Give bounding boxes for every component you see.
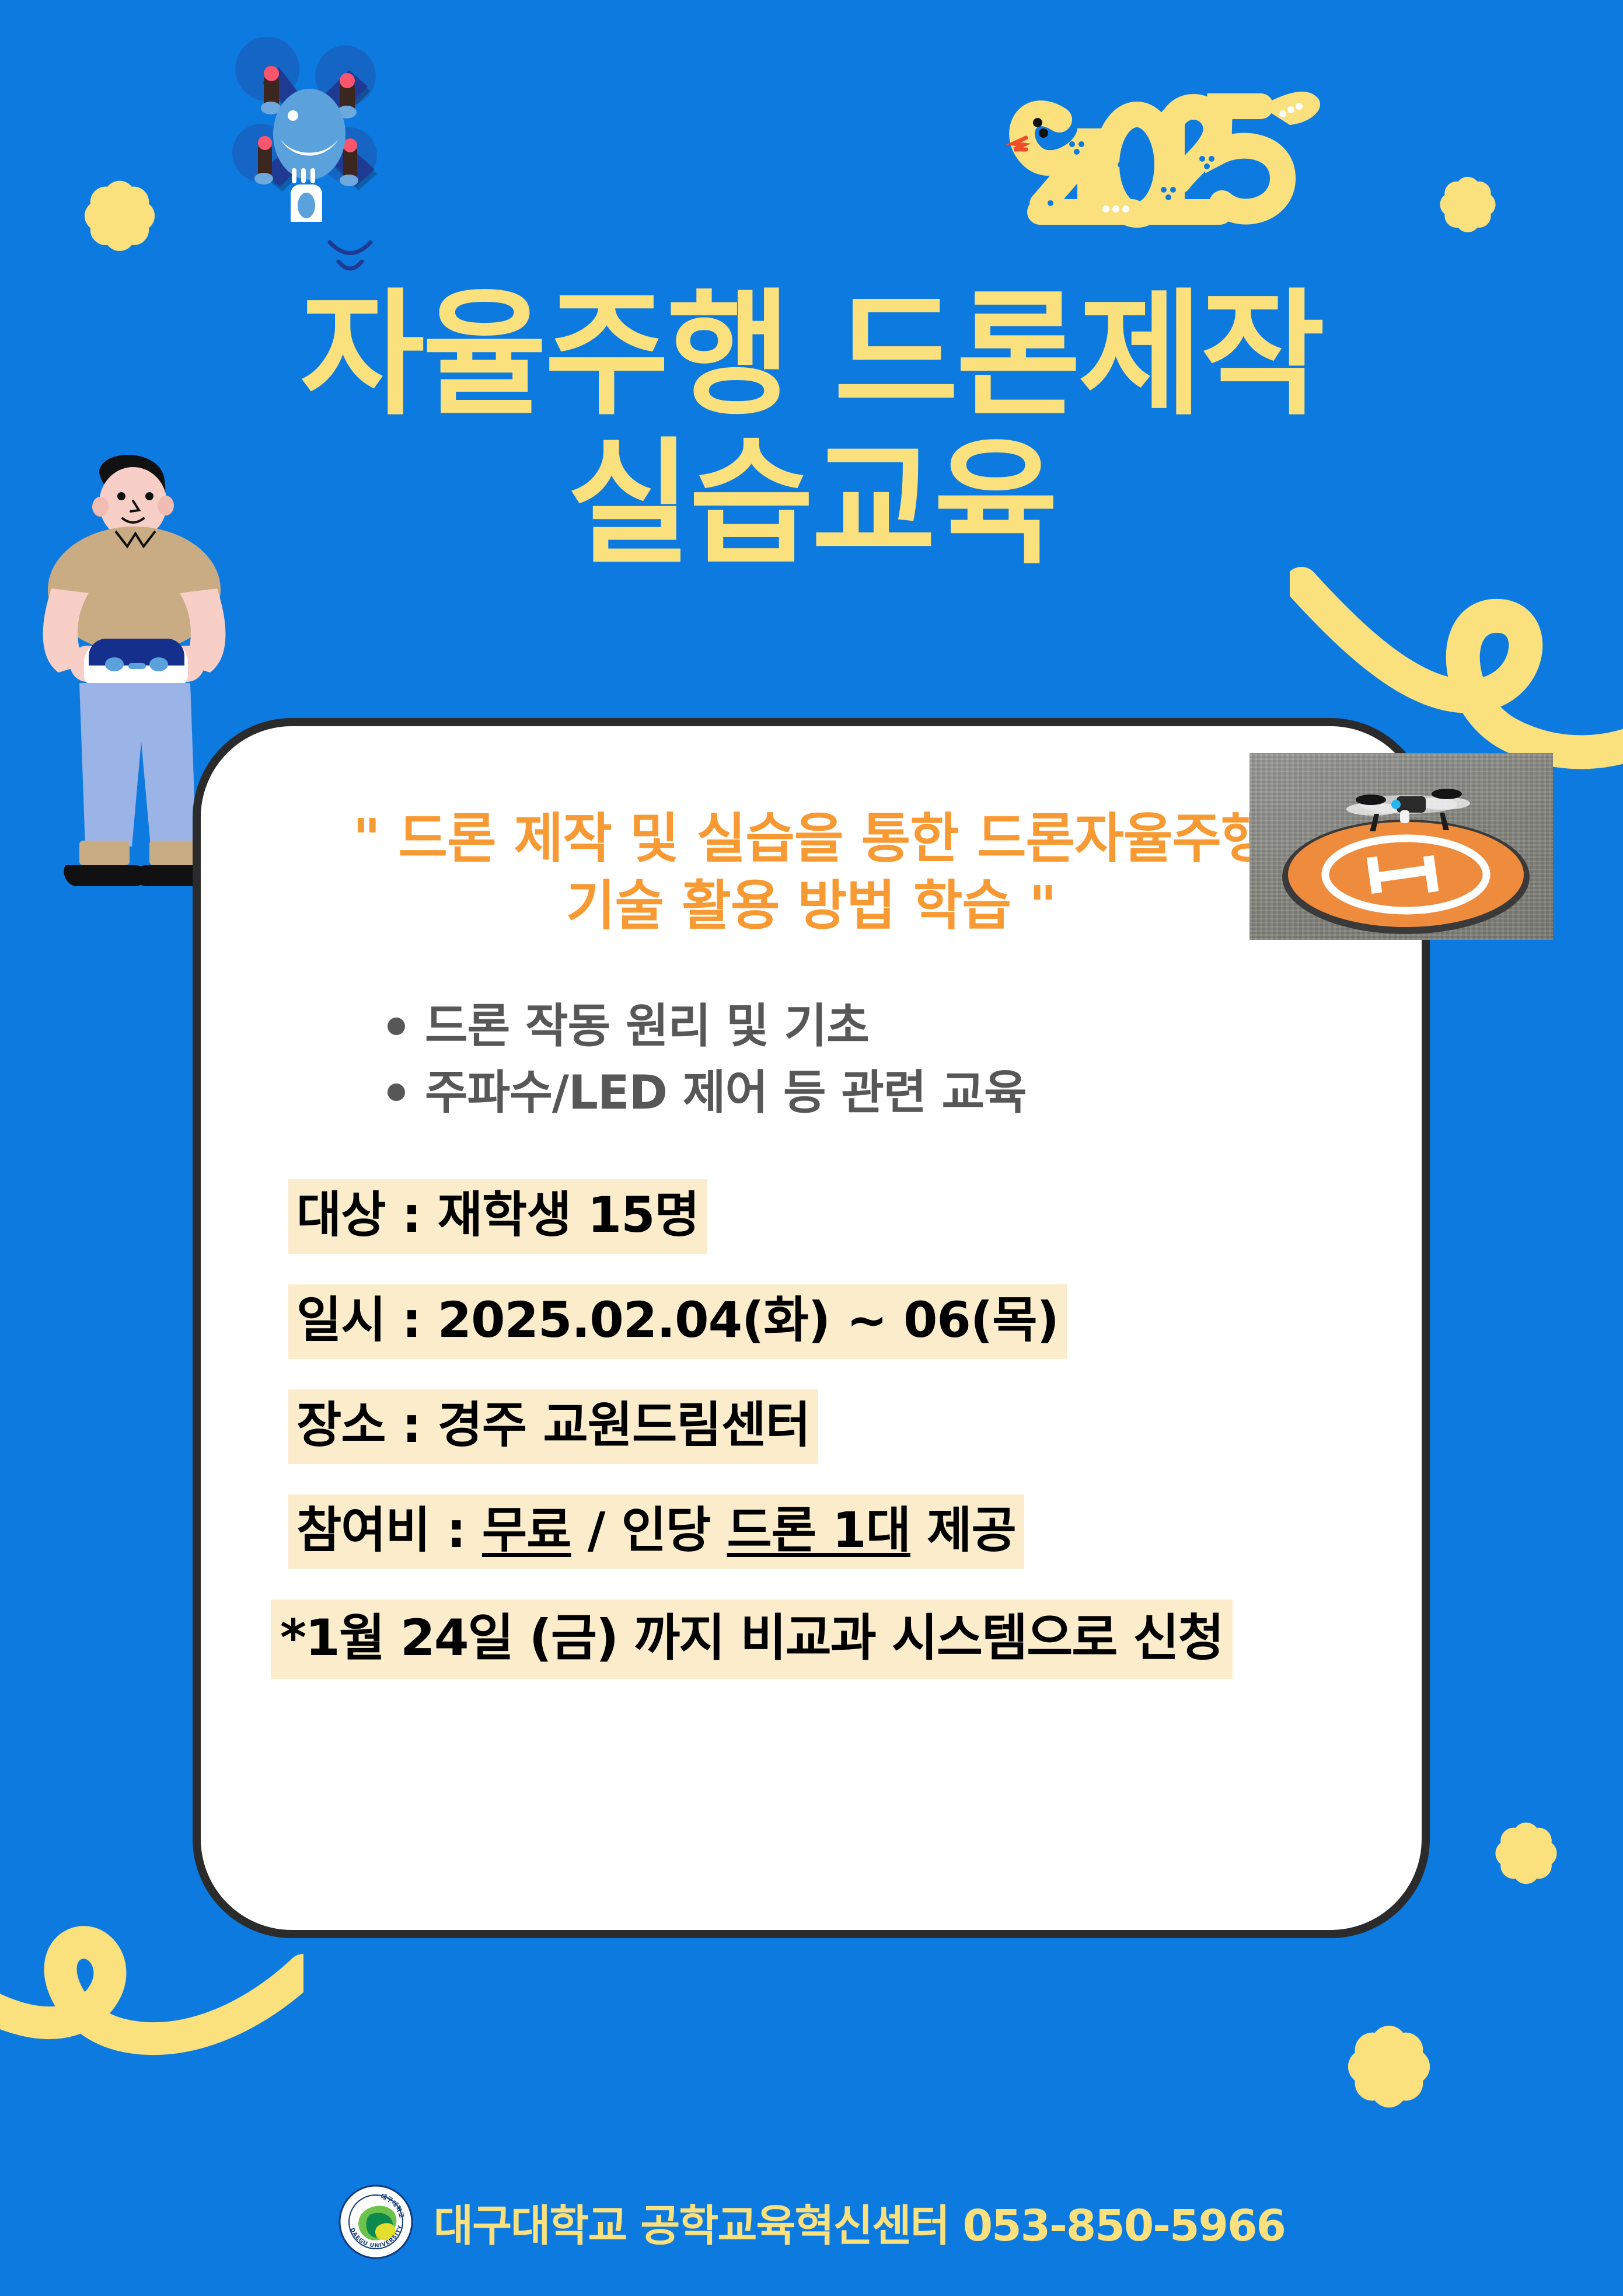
fee-underline-free: 무료 [482,1501,571,1559]
footer: 대구대학교 DAEGU UNIVERSITY 1956 대구대학교 공학교육혁신… [0,2184,1623,2260]
content-card: " 드론 제작 및 실습을 통한 드론자율주행 기술 활용 방법 학습 " 드론… [193,718,1430,1938]
bullet-text: 드론 작동 원리 및 기초 [425,993,869,1060]
asterisk-icon-top-right [1412,149,1523,260]
info-highlight-date: 일시 : 2025.02.04(화) ~ 06(목) [288,1284,1067,1359]
asterisk-icon-bottom-right-large [1307,1985,1471,2148]
poster-root: 자율주행 드론제작 실습교육 " 드론 제작 및 실습을 통한 드론자율주행 [0,0,1623,2296]
bullet-text: 주파수/LED 제어 등 관련 교육 [425,1060,1027,1126]
list-item: 드론 작동 원리 및 기초 [388,993,1422,1060]
poster-title: 자율주행 드론제작 실습교육 [0,286,1623,573]
footer-organization: 대구대학교 공학교육혁신센터 053-850-5966 [434,2191,1285,2253]
info-highlight-place: 장소 : 경주 교원드림센터 [288,1389,818,1464]
info-list: 대상 : 재학생 15명 일시 : 2025.02.04(화) ~ 06(목) … [201,1179,1422,1569]
drone-signal-waves-icon [309,234,391,286]
fee-suffix: 제공 [910,1501,1016,1559]
quote-line-2: 기술 활용 방법 학습 " [201,872,1422,939]
fee-underline-drone: 드론 1대 [727,1501,910,1559]
year-2025-snake-graphic [986,64,1395,257]
list-item: 주파수/LED 제어 등 관련 교육 [388,1060,1422,1126]
fee-prefix: 참여비 : [296,1501,482,1559]
bullet-dot-icon [388,1018,405,1035]
photo-contents [1249,753,1553,940]
bullet-list: 드론 작동 원리 및 기초 주파수/LED 제어 등 관련 교육 [201,993,1422,1126]
application-note-row: *1월 24일 (금) 까지 비교과 시스템으로 신청 [201,1600,1422,1679]
info-row-fee: 참여비 : 무료 / 인당 드론 1대 제공 [288,1494,1422,1569]
fee-mid: / 인당 [571,1501,727,1559]
title-line-2: 실습교육 [0,435,1623,573]
squiggle-loop-bottom-left [0,1909,303,2102]
quote-block: " 드론 제작 및 실습을 통한 드론자율주행 기술 활용 방법 학습 " [201,805,1422,939]
info-row-place: 장소 : 경주 교원드림센터 [288,1389,1422,1464]
quote-line-1: " 드론 제작 및 실습을 통한 드론자율주행 [201,805,1422,872]
drone-helipad-photo [1249,753,1553,940]
title-line-1: 자율주행 드론제작 [0,286,1623,424]
asterisk-icon-bottom-right-small [1465,1792,1587,1915]
bullet-dot-icon [388,1083,405,1101]
info-row-target: 대상 : 재학생 15명 [288,1179,1422,1254]
info-highlight-fee: 참여비 : 무료 / 인당 드론 1대 제공 [288,1494,1024,1569]
drone-illustration-icon [193,18,426,222]
daegu-university-logo: 대구대학교 DAEGU UNIVERSITY 1956 [338,2184,414,2260]
info-row-date: 일시 : 2025.02.04(화) ~ 06(목) [288,1284,1422,1359]
application-note: *1월 24일 (금) 까지 비교과 시스템으로 신청 [271,1600,1233,1679]
info-highlight-target: 대상 : 재학생 15명 [288,1179,707,1254]
asterisk-icon-top-left [50,146,190,286]
